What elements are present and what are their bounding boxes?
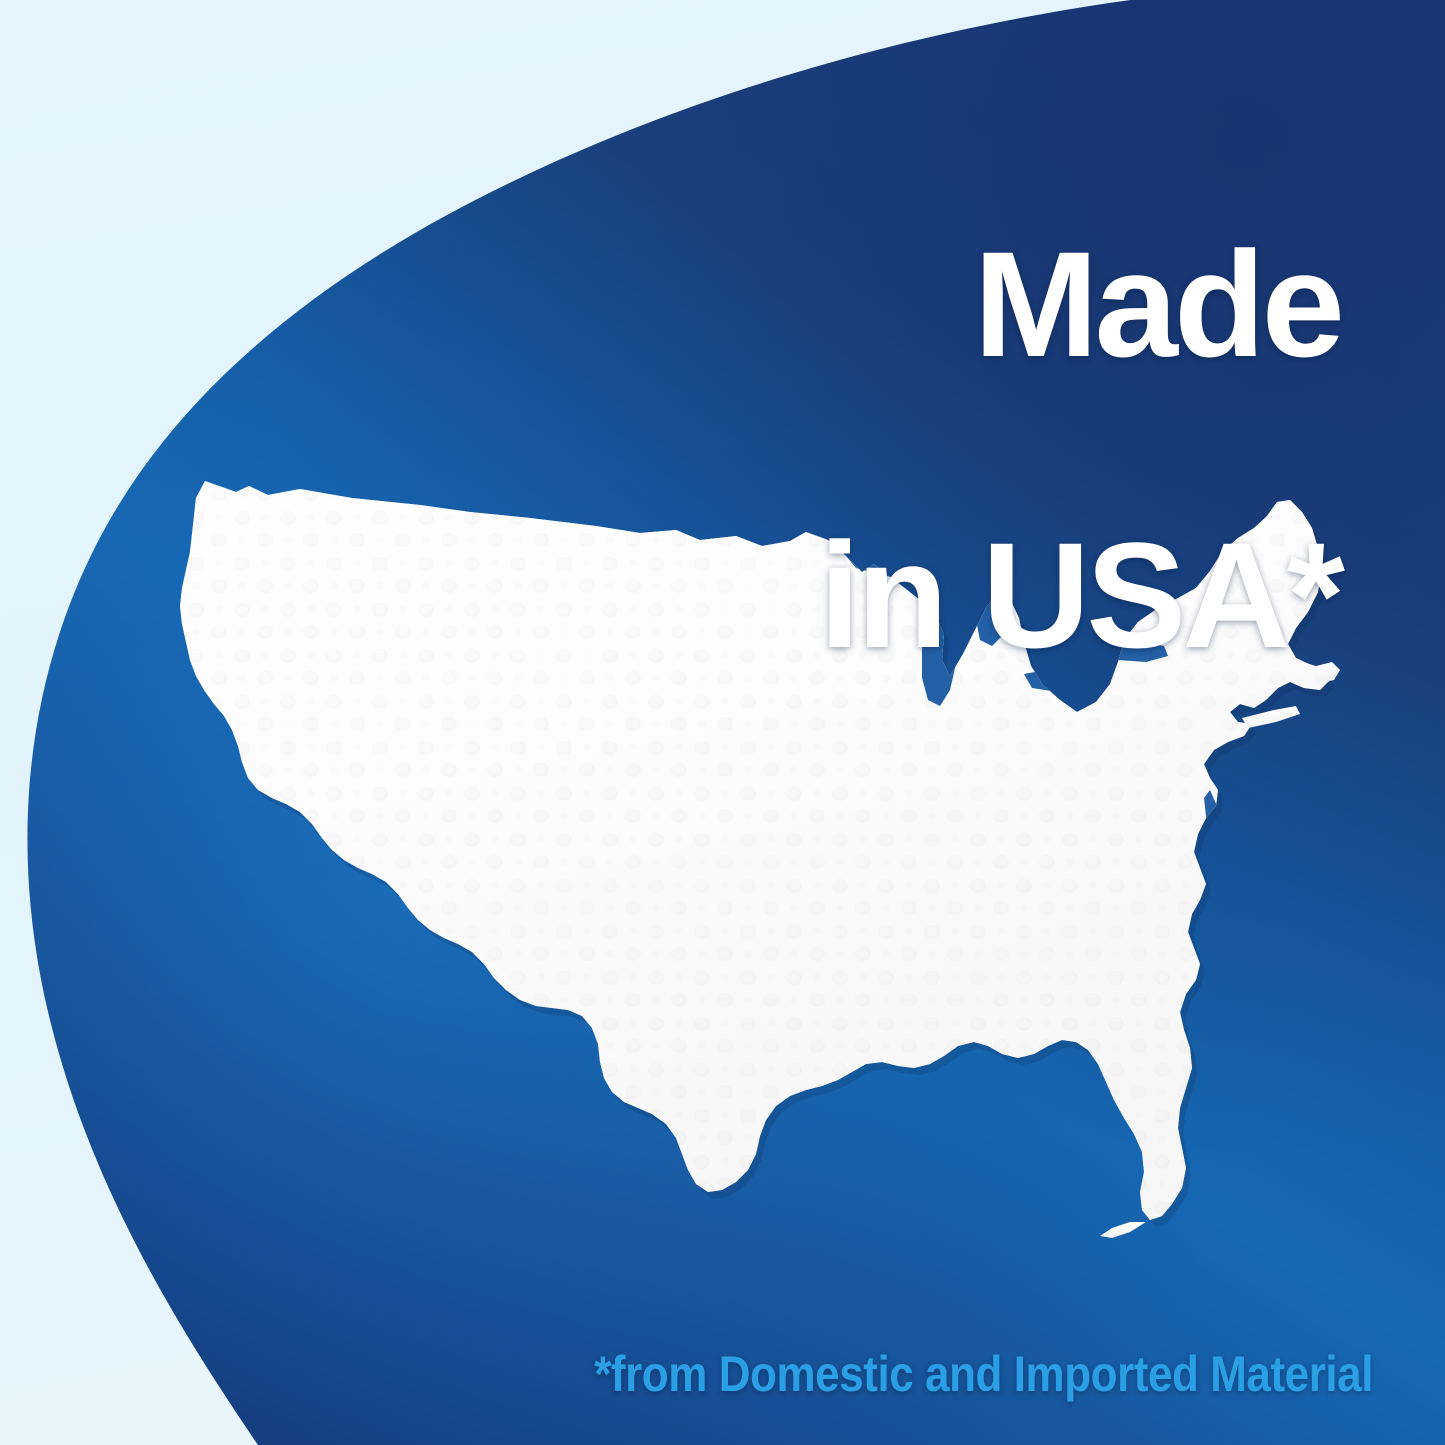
page-title: Made in USA* [819, 86, 1341, 814]
headline-line-1: Made [819, 232, 1341, 378]
headline-line-2: in USA* [819, 523, 1341, 669]
made-in-usa-graphic: Made in USA* *from Domestic and Imported… [0, 0, 1445, 1445]
footnote-caption: *from Domestic and Imported Material [165, 1345, 1373, 1403]
